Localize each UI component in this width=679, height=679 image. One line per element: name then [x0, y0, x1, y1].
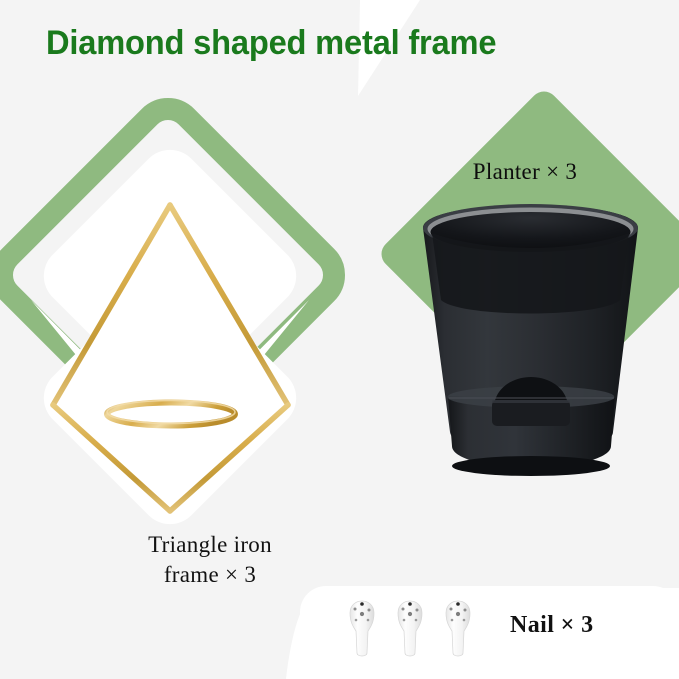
triangle-frame-label-line1: Triangle iron: [60, 530, 360, 560]
nail-label: Nail × 3: [510, 612, 594, 639]
nail-panel-background: [286, 586, 679, 679]
page-title: Diamond shaped metal frame: [46, 24, 496, 63]
planter-label: Planter × 3: [400, 159, 650, 185]
planter-pot-icon: [423, 204, 638, 476]
water-indicator-tab: [492, 400, 570, 426]
product-infographic: Diamond shaped metal frame Planter × 3 T…: [0, 0, 679, 679]
triangle-frame-label: Triangle iron frame × 3: [60, 530, 360, 591]
triangle-frame-label-line2: frame × 3: [60, 560, 360, 590]
